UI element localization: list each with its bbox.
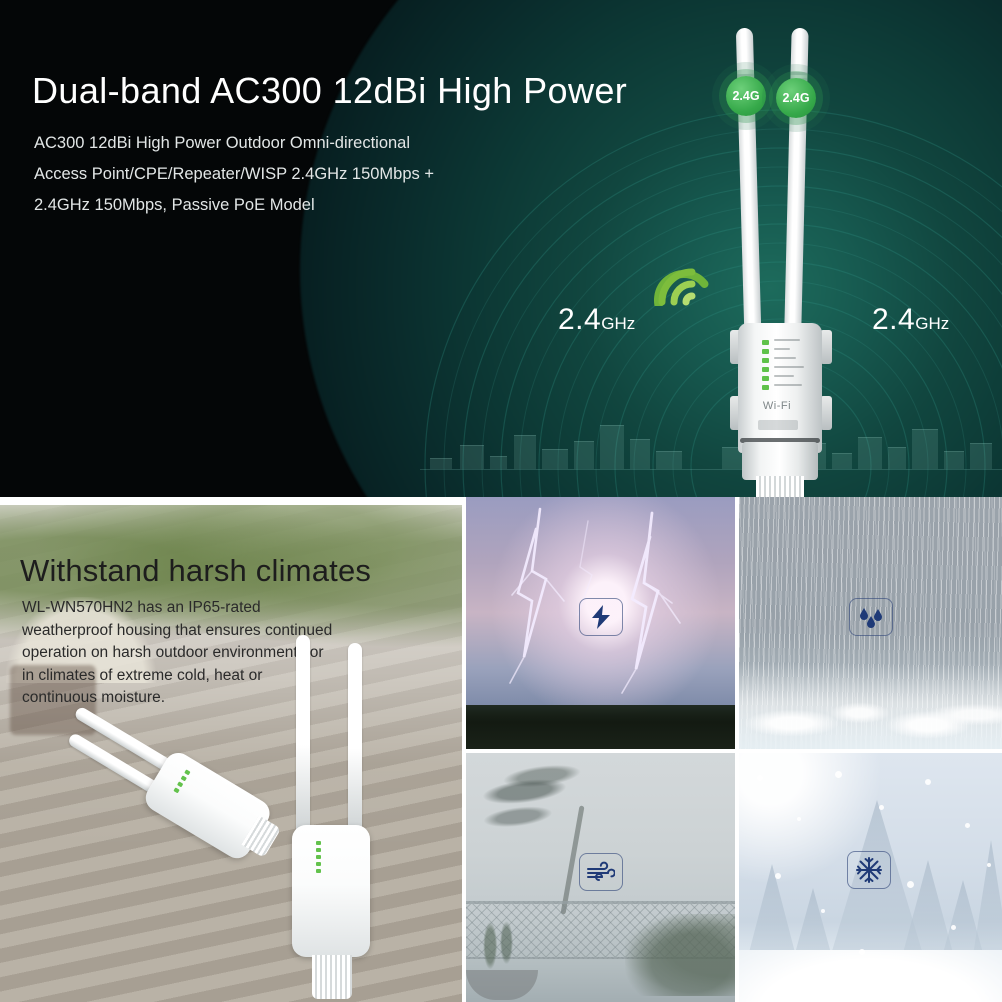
router-base: [742, 442, 818, 480]
antenna-left: [736, 28, 761, 328]
climate-body-line: WL-WN570HN2 has an IP65-rated: [22, 597, 442, 620]
band-label-right: 2.4GHz: [872, 303, 949, 337]
shrubs: [625, 914, 735, 996]
band-badge-2.4g-right: 2.4G: [776, 78, 816, 118]
hero-title: Dual-band AC300 12dBi High Power: [32, 70, 627, 112]
led-labels: [774, 339, 808, 393]
wind-panel: [466, 753, 735, 1002]
snowflake-icon: [847, 851, 891, 889]
hero-section: Dual-band AC300 12dBi High Power AC300 1…: [0, 0, 1002, 497]
climate-panel: Withstand harsh climates WL-WN570HN2 has…: [0, 505, 462, 1002]
hero-description: AC300 12dBi High Power Outdoor Omni-dire…: [34, 128, 434, 221]
product-banner: Dual-band AC300 12dBi High Power AC300 1…: [0, 0, 1002, 1002]
router-device: 2.4G 2.4G Wi-Fi: [716, 28, 846, 497]
hero-description-line: Access Point/CPE/Repeater/WISP 2.4GHz 15…: [34, 159, 434, 190]
storm-treeline: [466, 705, 735, 749]
band-value: 2.4: [872, 303, 915, 336]
antenna-right: [784, 28, 808, 328]
water-splash: [739, 663, 1002, 749]
band-unit: GHz: [915, 314, 949, 333]
router-product-photo-upright: [282, 635, 402, 1002]
wifi-brand-logo: Wi-Fi: [754, 400, 800, 416]
storm-panel: [466, 497, 735, 749]
water-droplets-icon: [849, 598, 893, 636]
band-label-left: 2.4GHz: [558, 303, 635, 337]
model-badge: [758, 420, 798, 430]
router-connector-cap: [756, 476, 804, 497]
hero-description-line: AC300 12dBi High Power Outdoor Omni-dire…: [34, 128, 434, 159]
snow-panel: [739, 753, 1002, 1002]
features-grid: Withstand harsh climates WL-WN570HN2 has…: [0, 497, 1002, 1002]
wind-icon: [579, 853, 623, 891]
led-indicators: [762, 340, 772, 394]
rain-panel: [739, 497, 1002, 749]
climate-heading: Withstand harsh climates: [20, 553, 371, 589]
skyline-baseline: [420, 469, 1002, 470]
band-value: 2.4: [558, 303, 601, 336]
hero-description-line: 2.4GHz 150Mbps, Passive PoE Model: [34, 190, 434, 221]
band-unit: GHz: [601, 314, 635, 333]
lightning-bolt-icon: [579, 598, 623, 636]
wifi-signal-icon: [650, 250, 718, 306]
band-badge-2.4g-left: 2.4G: [726, 76, 766, 116]
